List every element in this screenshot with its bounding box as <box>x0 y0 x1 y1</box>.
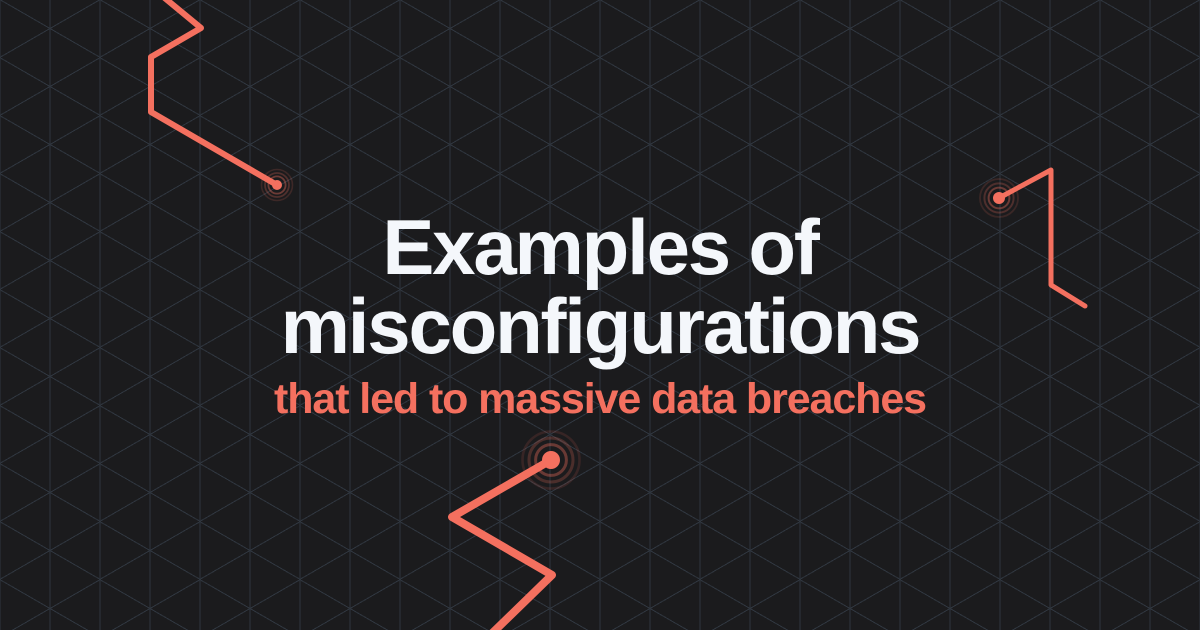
headline-line-2: misconfigurations <box>281 288 920 364</box>
title-block: Examples of misconfigurations that led t… <box>0 0 1200 630</box>
subheadline: that led to massive data breaches <box>274 378 926 421</box>
social-card-canvas: Examples of misconfigurations that led t… <box>0 0 1200 630</box>
headline-line-1: Examples of <box>382 209 817 285</box>
